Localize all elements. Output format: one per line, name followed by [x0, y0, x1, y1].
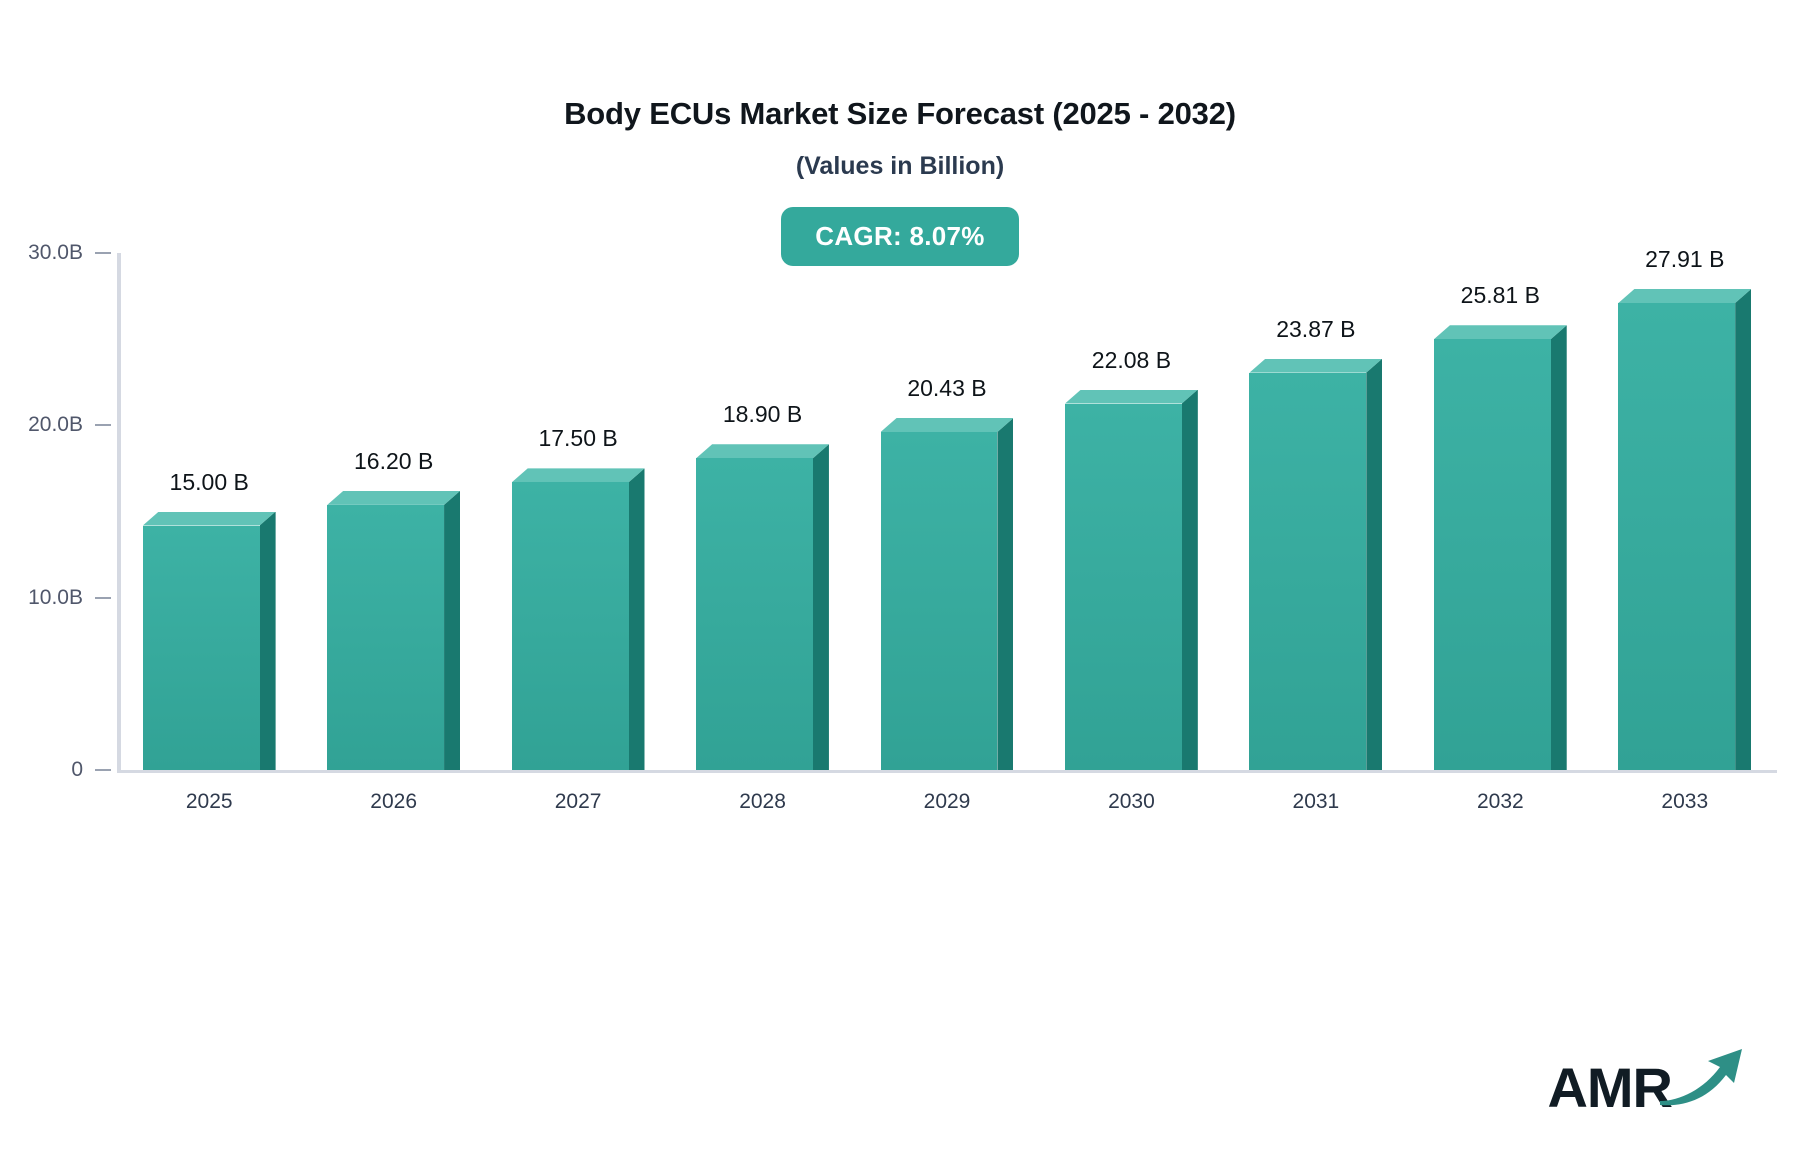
bar-front-face: [1065, 404, 1182, 771]
x-axis-tick-label: 2027: [555, 790, 602, 814]
bar-column[interactable]: 17.50 B: [512, 253, 645, 770]
bar-side-face: [629, 468, 645, 770]
bar-top-face: [512, 468, 645, 482]
bar-value-label: 22.08 B: [1092, 347, 1171, 374]
y-axis-tick-mark: [95, 769, 111, 771]
bar-front-face: [881, 432, 998, 770]
bar-column[interactable]: 25.81 B: [1434, 253, 1567, 770]
x-axis-tick-label: 2029: [924, 790, 971, 814]
bar-column[interactable]: 16.20 B: [327, 253, 460, 770]
bar-value-label: 25.81 B: [1461, 282, 1540, 309]
bar-side-face: [813, 444, 829, 770]
bar-top-face: [1618, 289, 1751, 303]
x-axis-tick-label: 2025: [186, 790, 233, 814]
y-axis-tick: 20.0B: [0, 425, 113, 449]
bar-top-face: [143, 512, 276, 526]
y-axis-tick: 10.0B: [0, 598, 113, 622]
bar-column[interactable]: 23.87 B: [1249, 253, 1382, 770]
bar-top-face: [881, 418, 1014, 432]
y-axis-tick-label: 20.0B: [0, 413, 113, 437]
bar-front-face: [1618, 303, 1735, 770]
y-axis-line: [117, 253, 121, 771]
y-axis-tick-label: 10.0B: [0, 586, 113, 610]
chart-header: Body ECUs Market Size Forecast (2025 - 2…: [0, 0, 1800, 181]
bar-column[interactable]: 27.91 B: [1618, 253, 1751, 770]
bar-value-label: 15.00 B: [170, 469, 249, 496]
amr-logo-text: AMR: [1547, 1060, 1672, 1116]
bar-value-label: 16.20 B: [354, 448, 433, 475]
bar-side-face: [1366, 359, 1382, 770]
bar-column[interactable]: 20.43 B: [881, 253, 1014, 770]
bar-side-face: [1735, 289, 1751, 770]
cagr-badge-container: CAGR: 8.07%: [0, 207, 1800, 266]
y-axis-tick-label: 0: [0, 758, 113, 782]
bar-front-face: [1434, 339, 1551, 770]
bar-front-face: [512, 482, 629, 770]
bar-front-face: [143, 526, 260, 771]
bar-side-face: [260, 512, 276, 771]
x-axis-tick-label: 2030: [1108, 790, 1155, 814]
cagr-badge: CAGR: 8.07%: [781, 207, 1018, 266]
chart-subtitle: (Values in Billion): [0, 152, 1800, 181]
bar-value-label: 20.43 B: [907, 375, 986, 402]
bar-top-face: [327, 491, 460, 505]
bar-front-face: [327, 505, 444, 770]
bar-side-face: [1551, 325, 1567, 770]
x-axis-tick-label: 2032: [1477, 790, 1524, 814]
y-axis-tick: 0: [0, 770, 113, 794]
x-axis-tick-label: 2031: [1293, 790, 1340, 814]
x-axis-tick-label: 2033: [1661, 790, 1708, 814]
bars-group: 15.00 B16.20 B17.50 B18.90 B20.43 B22.08…: [117, 253, 1777, 770]
bar-value-label: 17.50 B: [538, 425, 617, 452]
bar-front-face: [1249, 373, 1366, 770]
bar-top-face: [1434, 325, 1567, 339]
x-axis-tick-label: 2026: [370, 790, 417, 814]
bar-side-face: [1182, 390, 1198, 771]
bar-column[interactable]: 15.00 B: [143, 253, 276, 770]
growth-arrow-icon: [1658, 1045, 1744, 1112]
y-axis-tick-mark: [95, 597, 111, 599]
amr-logo: AMR: [1547, 1045, 1744, 1116]
bar-value-label: 18.90 B: [723, 401, 802, 428]
bar-top-face: [696, 444, 829, 458]
bar-top-face: [1065, 390, 1198, 404]
bar-side-face: [997, 418, 1013, 770]
x-axis-line: [117, 770, 1777, 773]
bar-top-face: [1249, 359, 1382, 373]
x-axis-tick-label: 2028: [739, 790, 786, 814]
bar-front-face: [696, 458, 813, 770]
bar-side-face: [444, 491, 460, 770]
y-axis-tick-mark: [95, 424, 111, 426]
bar-column[interactable]: 18.90 B: [696, 253, 829, 770]
page-title: Body ECUs Market Size Forecast (2025 - 2…: [0, 96, 1800, 132]
bar-column[interactable]: 22.08 B: [1065, 253, 1198, 770]
bar-value-label: 23.87 B: [1276, 316, 1355, 343]
